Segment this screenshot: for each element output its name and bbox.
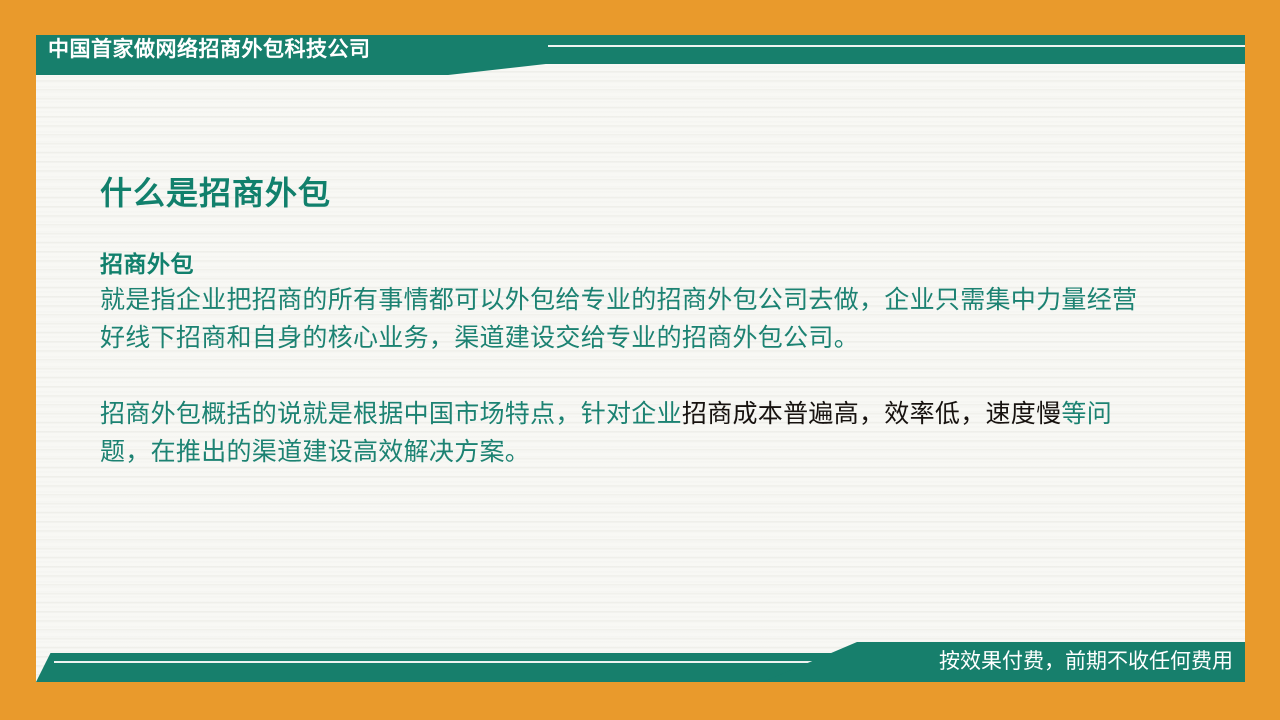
header-banner: 中国首家做网络招商外包科技公司 [36, 35, 1245, 75]
header-hairline-divider [536, 45, 1245, 47]
header-title: 中国首家做网络招商外包科技公司 [48, 36, 371, 64]
definition-term: 招商外包 [100, 247, 1220, 281]
footer-tagline: 按效果付费，前期不收任何费用 [939, 646, 1233, 678]
summary-text-emphasis: 招商成本普遍高，效率低，速度慢 [682, 400, 1062, 428]
main-content: 什么是招商外包 招商外包 就是指企业把招商的所有事情都可以外包给专业的招商外包公… [100, 172, 1220, 471]
summary-paragraph: 招商外包概括的说就是根据中国市场特点，针对企业招商成本普遍高，效率低，速度慢等问… [100, 395, 1160, 471]
footer-tagline-block: 按效果付费，前期不收任何费用 [763, 642, 1245, 682]
definition-block: 招商外包 就是指企业把招商的所有事情都可以外包给专业的招商外包公司去做，企业只需… [100, 247, 1220, 357]
header-title-block: 中国首家做网络招商外包科技公司 [36, 35, 548, 75]
definition-text: 就是指企业把招商的所有事情都可以外包给专业的招商外包公司去做，企业只需集中力量经… [100, 281, 1160, 357]
slide-canvas: 中国首家做网络招商外包科技公司 什么是招商外包 招商外包 就是指企业把招商的所有… [0, 0, 1280, 720]
summary-text-lead: 招商外包概括的说就是根据中国市场特点，针对企业 [100, 400, 682, 428]
footer-banner: 按效果付费，前期不收任何费用 [36, 642, 1245, 682]
page-title: 什么是招商外包 [100, 172, 1220, 214]
footer-hairline-divider [54, 661, 916, 663]
